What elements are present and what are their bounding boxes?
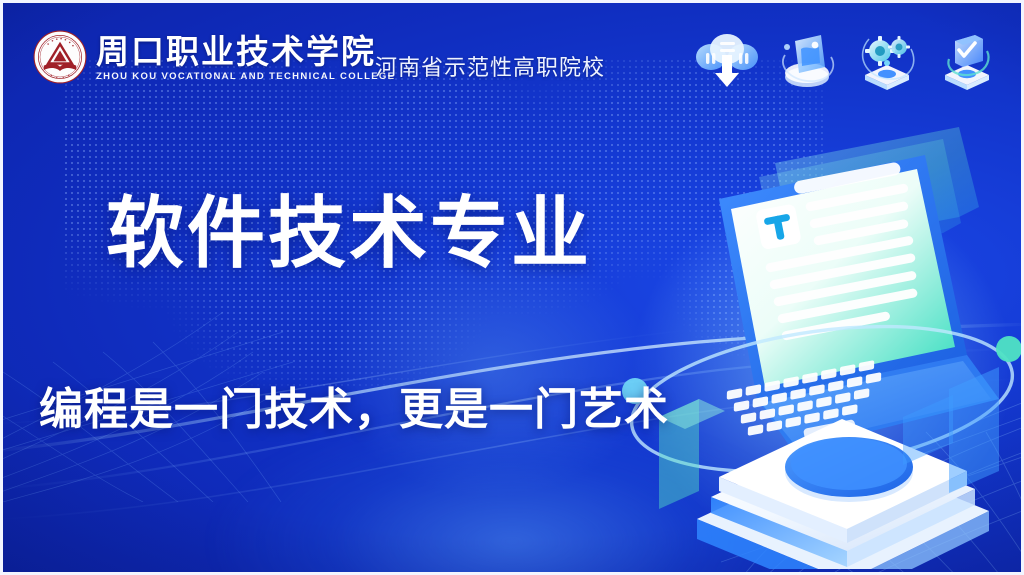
college-brand[interactable]: 周口职业技术学院 ZHOU KOU VOCATIONAL AND TECHNIC… xyxy=(33,30,395,84)
slide-root: 周口职业技术学院 ZHOU KOU VOCATIONAL AND TECHNIC… xyxy=(0,0,1024,575)
orbit-node-right xyxy=(996,336,1022,362)
isometric-laptop-illustration xyxy=(607,99,1024,569)
page-title: 软件技术专业 xyxy=(106,195,592,273)
college-name-en: ZHOU KOU VOCATIONAL AND TECHNICAL COLLEG… xyxy=(96,72,395,82)
header-bar: 周口职业技术学院 ZHOU KOU VOCATIONAL AND TECHNIC… xyxy=(3,3,1021,103)
mobile-screen-icon[interactable] xyxy=(771,25,843,91)
cloud-download-icon[interactable] xyxy=(691,25,763,91)
checkmark-book-icon[interactable] xyxy=(931,25,1003,91)
gears-network-icon[interactable] xyxy=(851,25,923,91)
college-name-cn: 周口职业技术学院 xyxy=(96,35,395,68)
gear-large xyxy=(865,36,895,66)
gear-small xyxy=(888,36,910,58)
university-seal-icon xyxy=(33,30,87,84)
college-tagline: 河南省示范性高职院校 xyxy=(375,50,605,82)
laptop-lid xyxy=(719,155,967,399)
header-icon-row xyxy=(691,25,1003,91)
page-subtitle: 编程是一门技术，更是一门艺术 xyxy=(39,388,669,432)
